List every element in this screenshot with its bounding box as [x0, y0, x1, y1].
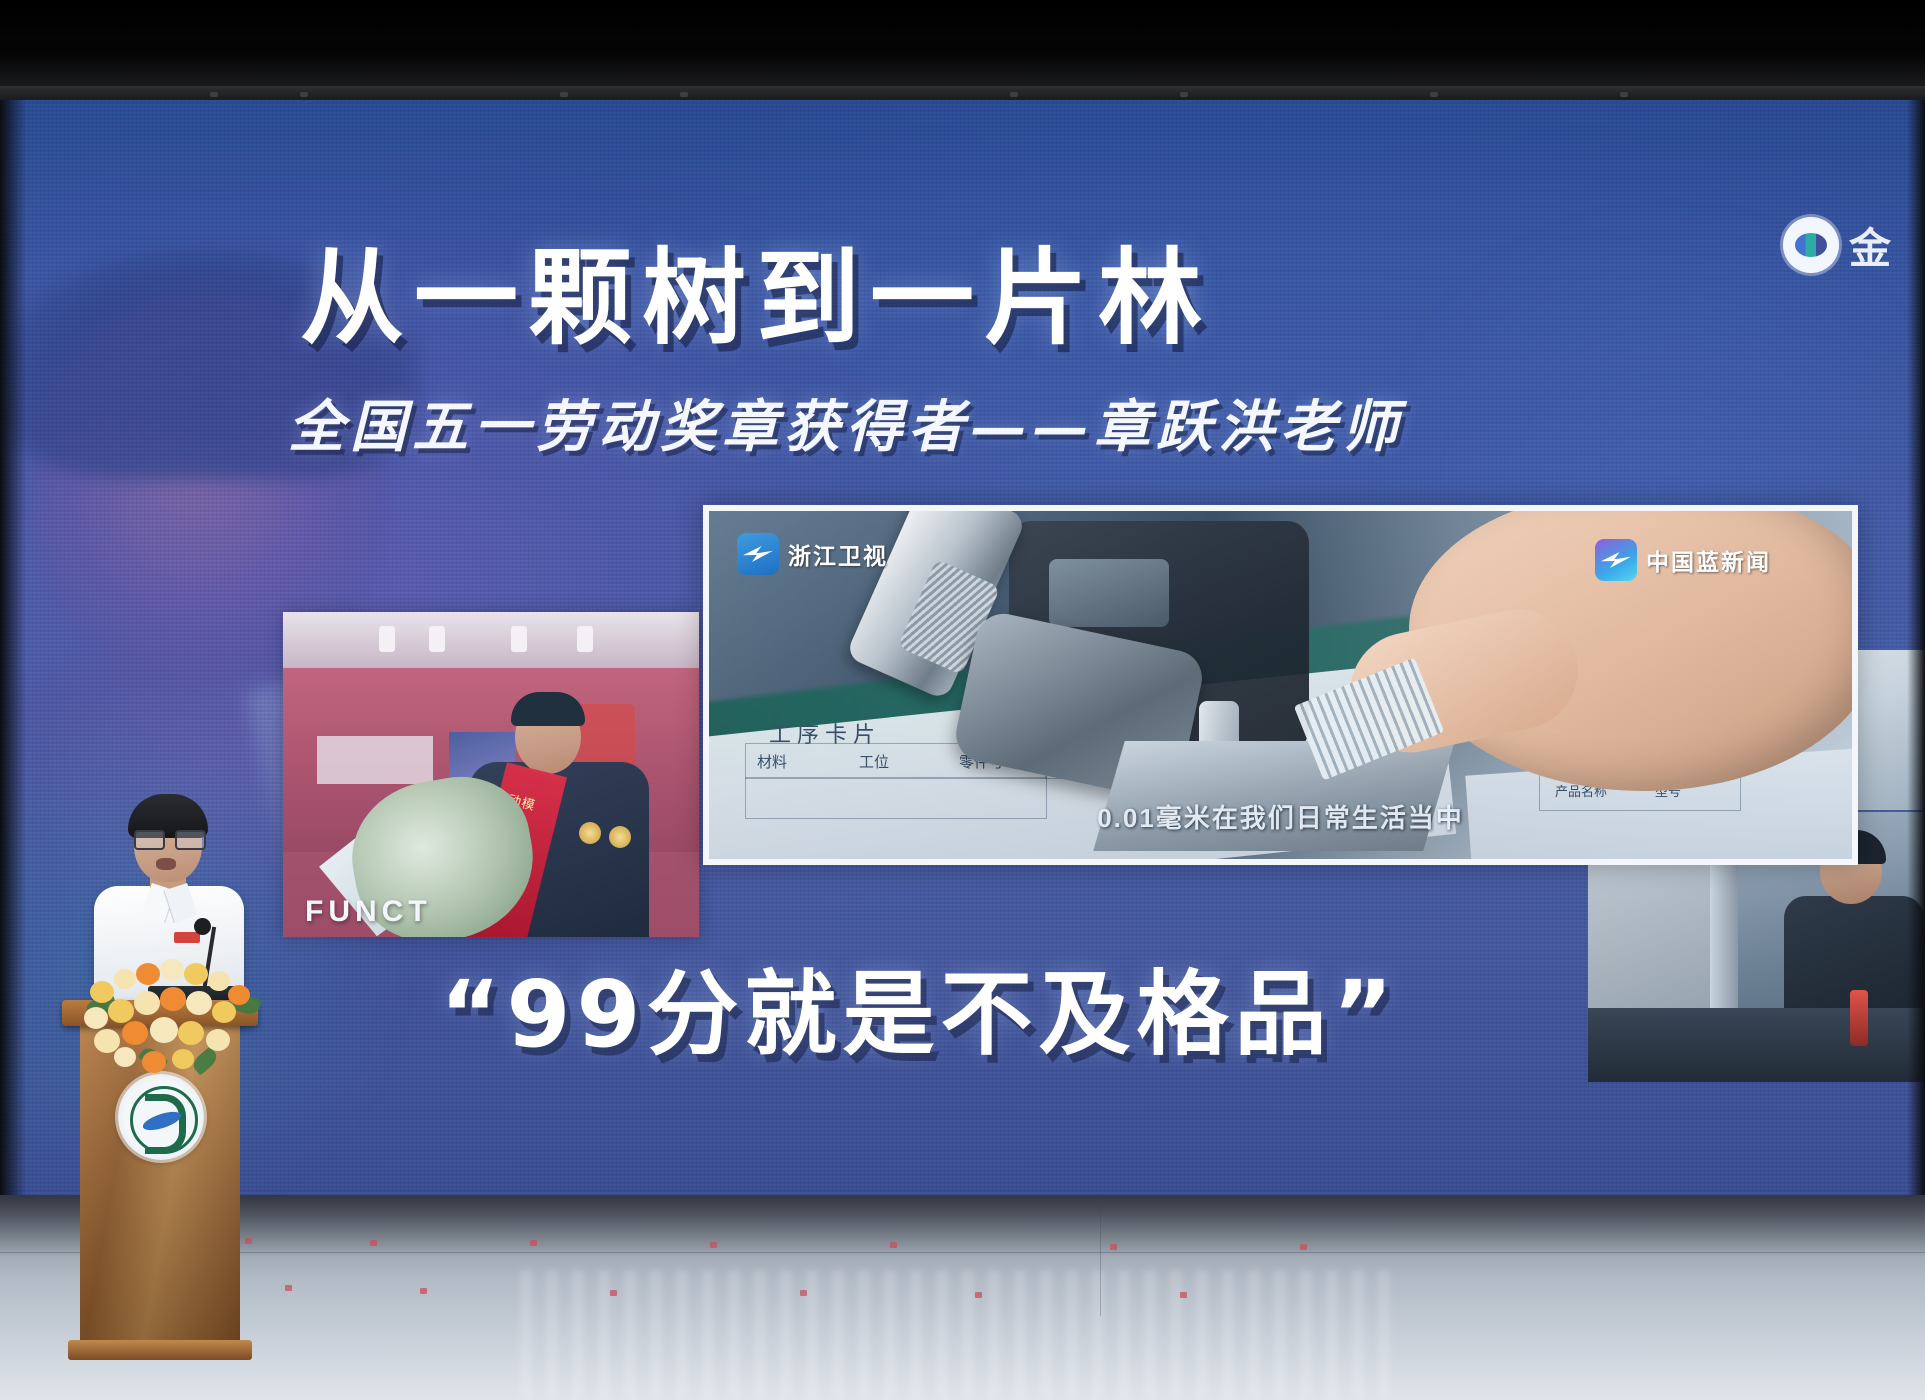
school-crest-icon: [118, 1074, 204, 1160]
slide-headline: 从一颗树到一片林: [300, 238, 1550, 358]
china-blue-news-mark-icon: [1595, 539, 1637, 581]
zhejiang-tv-logo: 浙江卫视: [737, 533, 888, 575]
china-blue-news-label: 中国蓝新闻: [1646, 543, 1771, 577]
slide-subheadline: 全国五一劳动奖章获得者——章跃洪老师: [288, 392, 1578, 462]
zhejiang-tv-mark-icon: [737, 533, 779, 575]
stage-scene: 从一颗树到一片林 全国五一劳动奖章获得者——章跃洪老师 金 劳动模范 FUNCT: [0, 0, 1925, 1400]
microphone-icon: [194, 918, 211, 935]
name-badge: [174, 932, 200, 943]
zhejiang-tv-label: 浙江卫视: [788, 537, 888, 571]
organization-logo-label: 金: [1849, 215, 1893, 276]
stage-left-edge: [0, 100, 26, 1195]
organization-badge-icon: [1783, 217, 1839, 273]
china-blue-news-logo: 中国蓝新闻: [1595, 539, 1771, 581]
news-video-still: 工序卡片 材料 工位 零件号 产品名称 产品型号 产品名称 型号 浙: [703, 505, 1858, 865]
organization-logo: 金: [1783, 212, 1925, 278]
floor-reflection: [520, 1270, 1400, 1400]
floor-shadow: [0, 1195, 1925, 1257]
award-photo-overlay-text: FUNCT: [305, 895, 432, 929]
video-caption: 0.01毫米在我们日常生活当中: [709, 798, 1852, 835]
ceiling: [0, 0, 1925, 100]
award-ceremony-photo: 劳动模范 FUNCT: [283, 612, 699, 937]
slide-quote: “99分就是不及格品”: [440, 960, 1540, 1070]
stage-right-edge: [1907, 100, 1925, 1195]
flower-arrangement: [80, 955, 260, 1075]
